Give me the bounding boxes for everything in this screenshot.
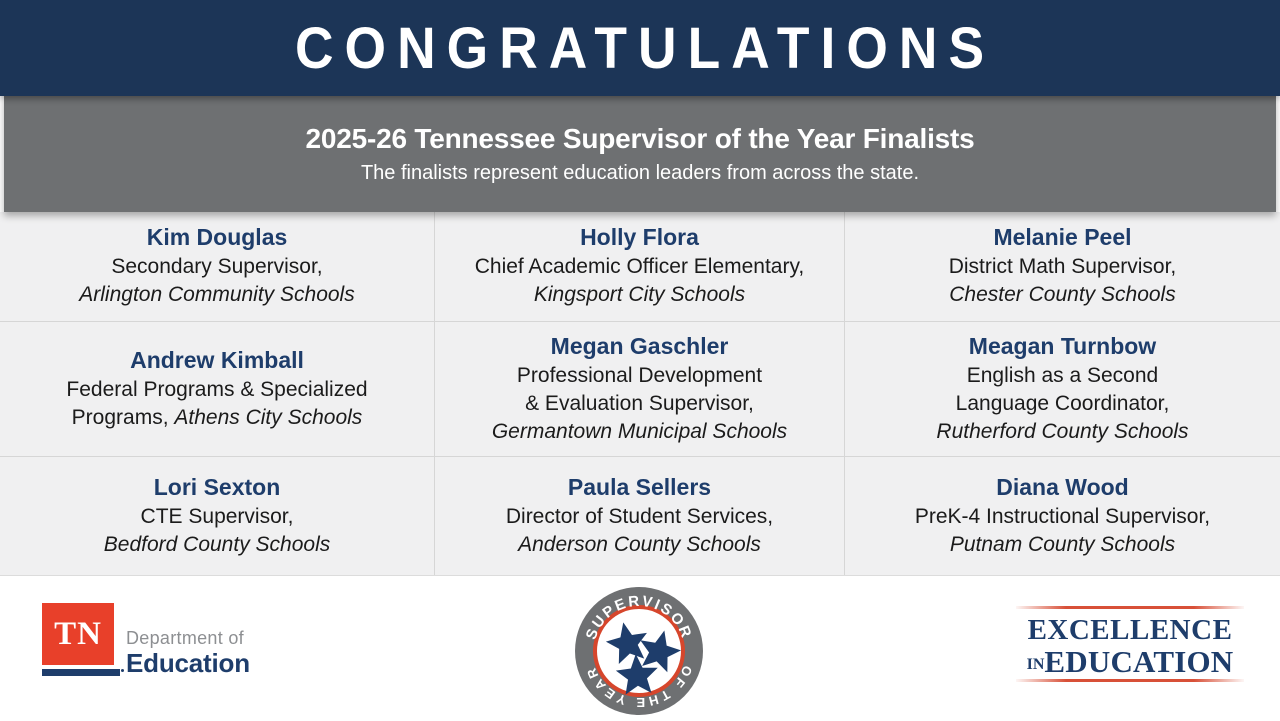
- page-title: CONGRATULATIONS: [284, 15, 995, 82]
- finalist-role: Programs, Athens City Schools: [66, 404, 367, 432]
- eie-top-rule: [1016, 606, 1244, 609]
- finalist-cell: Kim DouglasSecondary Supervisor,Arlingto…: [0, 212, 435, 322]
- finalist-details: English as a SecondLanguage Coordinator,…: [936, 362, 1188, 446]
- finalist-details: Secondary Supervisor,Arlington Community…: [79, 253, 354, 309]
- finalist-name: Lori Sexton: [154, 474, 281, 501]
- finalist-cell: Meagan TurnbowEnglish as a SecondLanguag…: [845, 322, 1280, 457]
- finalist-school: Putnam County Schools: [915, 531, 1210, 559]
- finalist-name: Meagan Turnbow: [969, 333, 1156, 360]
- finalist-cell: Andrew KimballFederal Programs & Special…: [0, 322, 435, 457]
- finalist-name: Melanie Peel: [993, 224, 1131, 251]
- finalist-name: Holly Flora: [580, 224, 699, 251]
- finalist-cell: Lori SextonCTE Supervisor,Bedford County…: [0, 457, 435, 575]
- tn-underline-bar: [42, 669, 120, 676]
- finalist-school: Anderson County Schools: [506, 531, 773, 559]
- finalist-role: & Evaluation Supervisor,: [492, 390, 787, 418]
- tn-department-label: Department of: [126, 628, 244, 649]
- finalist-role: CTE Supervisor,: [104, 503, 330, 531]
- eie-in-label: IN: [1027, 656, 1045, 673]
- finalist-cell: Melanie PeelDistrict Math Supervisor,Che…: [845, 212, 1280, 322]
- finalist-school: Chester County Schools: [949, 281, 1177, 309]
- finalist-school: Germantown Municipal Schools: [492, 418, 787, 446]
- footer-logos: TN Department of Education SUPERVISOR OF…: [0, 575, 1280, 721]
- finalist-role: Federal Programs & Specialized: [66, 376, 367, 404]
- finalist-cell: Holly FloraChief Academic Officer Elemen…: [435, 212, 845, 322]
- tn-department-of-education-logo: TN Department of Education: [42, 603, 292, 693]
- finalist-details: PreK-4 Instructional Supervisor,Putnam C…: [915, 503, 1210, 559]
- eie-education-label: INEDUCATION: [1016, 644, 1244, 680]
- finalist-name: Paula Sellers: [568, 474, 711, 501]
- finalist-school: Bedford County Schools: [104, 531, 330, 559]
- finalist-school: Rutherford County Schools: [936, 418, 1188, 446]
- finalist-role: Professional Development: [492, 362, 787, 390]
- header-banner: CONGRATULATIONS: [0, 0, 1280, 96]
- finalists-grid: Kim DouglasSecondary Supervisor,Arlingto…: [0, 212, 1280, 575]
- finalist-details: CTE Supervisor,Bedford County Schools: [104, 503, 330, 559]
- finalist-school: Kingsport City Schools: [475, 281, 805, 309]
- finalist-school: Athens City Schools: [174, 406, 362, 429]
- eie-bottom-rule: [1016, 679, 1244, 682]
- finalist-cell: Paula SellersDirector of Student Service…: [435, 457, 845, 575]
- finalist-details: Chief Academic Officer Elementary,Kingsp…: [475, 253, 805, 309]
- excellence-in-education-logo: EXCELLENCE INEDUCATION: [1016, 606, 1244, 682]
- finalist-name: Kim Douglas: [147, 224, 288, 251]
- tn-education-label: Education: [126, 648, 250, 679]
- finalist-role: Secondary Supervisor,: [79, 253, 354, 281]
- supervisor-of-the-year-seal-icon: SUPERVISOR OF THE YEAR: [572, 584, 706, 718]
- finalist-details: Professional Development& Evaluation Sup…: [492, 362, 787, 446]
- finalist-role: English as a Second: [936, 362, 1188, 390]
- finalist-details: Federal Programs & SpecializedPrograms, …: [66, 376, 367, 432]
- tn-mark-icon: TN: [42, 603, 114, 665]
- finalist-role: District Math Supervisor,: [949, 253, 1177, 281]
- finalist-cell: Diana WoodPreK-4 Instructional Superviso…: [845, 457, 1280, 575]
- subtitle-band: 2025-26 Tennessee Supervisor of the Year…: [4, 96, 1276, 212]
- finalist-details: District Math Supervisor,Chester County …: [949, 253, 1177, 309]
- finalist-role: Director of Student Services,: [506, 503, 773, 531]
- finalist-name: Andrew Kimball: [130, 347, 304, 374]
- finalist-name: Megan Gaschler: [551, 333, 729, 360]
- subtitle-title: 2025-26 Tennessee Supervisor of the Year…: [305, 123, 974, 155]
- finalist-details: Director of Student Services,Anderson Co…: [506, 503, 773, 559]
- eie-excellence-label: EXCELLENCE: [1016, 614, 1244, 647]
- eie-education-word: EDUCATION: [1044, 644, 1233, 679]
- finalist-role: Chief Academic Officer Elementary,: [475, 253, 805, 281]
- finalist-cell: Megan GaschlerProfessional Development& …: [435, 322, 845, 457]
- tn-trademark-dot-icon: [121, 669, 124, 672]
- finalist-role: Language Coordinator,: [936, 390, 1188, 418]
- finalist-school: Arlington Community Schools: [79, 281, 354, 309]
- finalist-role: PreK-4 Instructional Supervisor,: [915, 503, 1210, 531]
- subtitle-description: The finalists represent education leader…: [361, 162, 919, 185]
- tn-mark-label: TN: [54, 616, 102, 653]
- finalist-name: Diana Wood: [996, 474, 1128, 501]
